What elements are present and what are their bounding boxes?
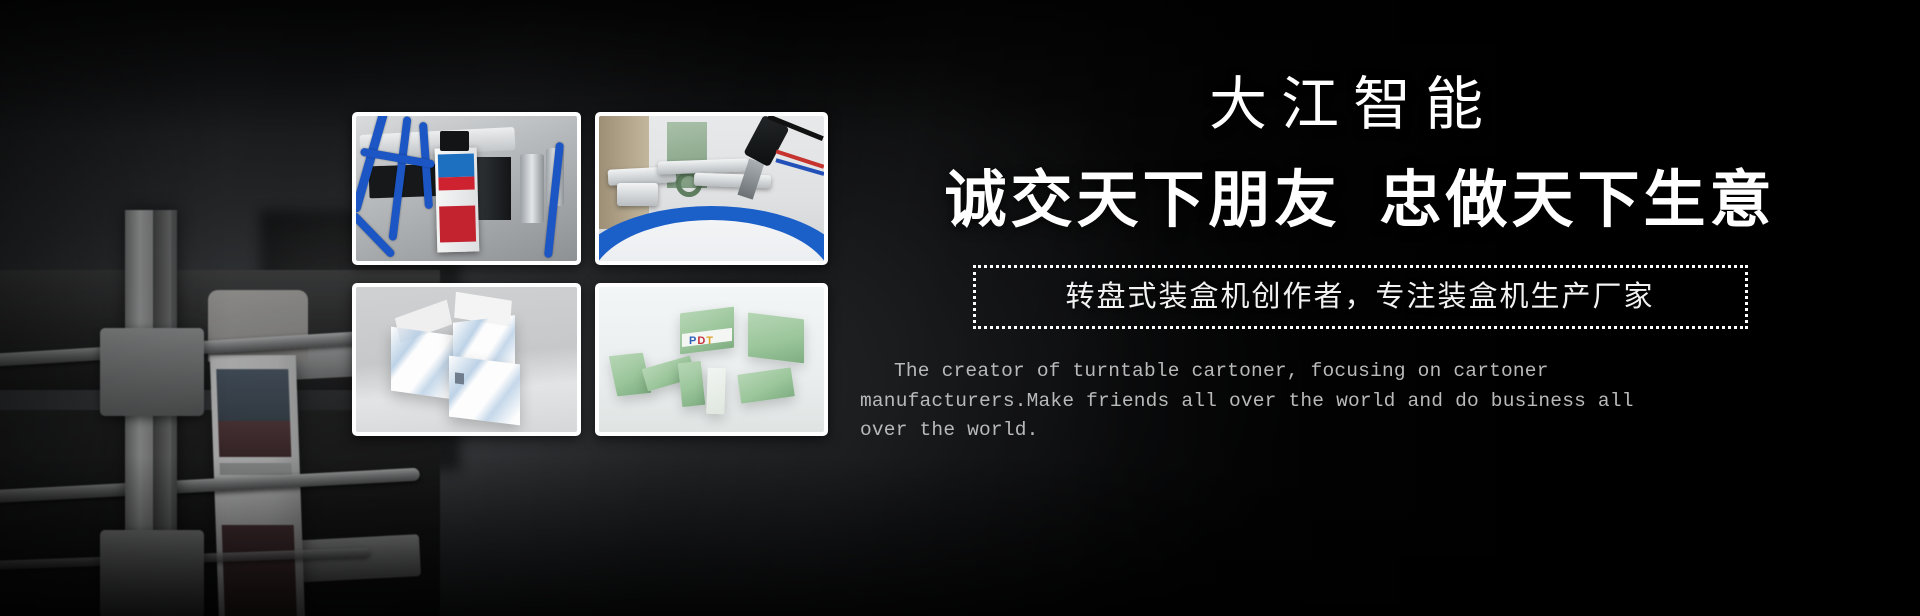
- green-box-pdt-label: PDT: [689, 335, 714, 347]
- photo-cartoner-machine[interactable]: [352, 112, 581, 265]
- banner-english-description: The creator of turntable cartoner, focus…: [860, 357, 1660, 446]
- robot-arm: [617, 183, 658, 206]
- white-carton: [449, 355, 520, 425]
- photo-green-cartons-image: PDT: [599, 287, 824, 432]
- carton-red-label-lower: [439, 206, 475, 242]
- photo-white-cartons[interactable]: [352, 283, 581, 436]
- photo-white-cartons-image: [356, 287, 577, 432]
- white-carton: [391, 326, 453, 398]
- pdt-letter-d: D: [697, 335, 706, 347]
- company-brand-name: 大江智能: [860, 76, 1860, 134]
- promo-banner: PDT 大江智能 诚交天下朋友 忠做天下生意 转盘式装盒机创作者，专注装盒机生产…: [0, 0, 1920, 616]
- carton-blue-label: [438, 154, 474, 178]
- banner-copy: 大江智能 诚交天下朋友 忠做天下生意 转盘式装盒机创作者，专注装盒机生产厂家 T…: [860, 76, 1860, 446]
- green-box: [706, 368, 726, 415]
- carton-qr-code: [454, 372, 463, 384]
- green-box: [748, 313, 804, 363]
- banner-tagline: 转盘式装盒机创作者，专注装盒机生产厂家: [994, 279, 1727, 315]
- photo-cartoner-machine-image: [356, 116, 577, 261]
- photo-turntable-robot[interactable]: [595, 112, 828, 265]
- machine-cylinder: [520, 154, 544, 224]
- carton-red-label: [438, 177, 474, 190]
- machine-black-head: [440, 131, 469, 151]
- green-box: [678, 361, 705, 407]
- green-box: [737, 367, 795, 403]
- carton-blue-print: [449, 355, 520, 425]
- product-photo-grid: PDT: [352, 112, 824, 436]
- robot-arm: [657, 158, 747, 174]
- photo-green-cartons[interactable]: PDT: [595, 283, 828, 436]
- banner-slogan: 诚交天下朋友 忠做天下生意: [860, 168, 1860, 235]
- photo-turntable-robot-image: [599, 116, 824, 261]
- pdt-letter-t: T: [706, 335, 714, 347]
- carton-blue-print: [391, 326, 453, 398]
- tagline-dotted-box: 转盘式装盒机创作者，专注装盒机生产厂家: [973, 265, 1748, 329]
- machine-carton: [434, 147, 479, 252]
